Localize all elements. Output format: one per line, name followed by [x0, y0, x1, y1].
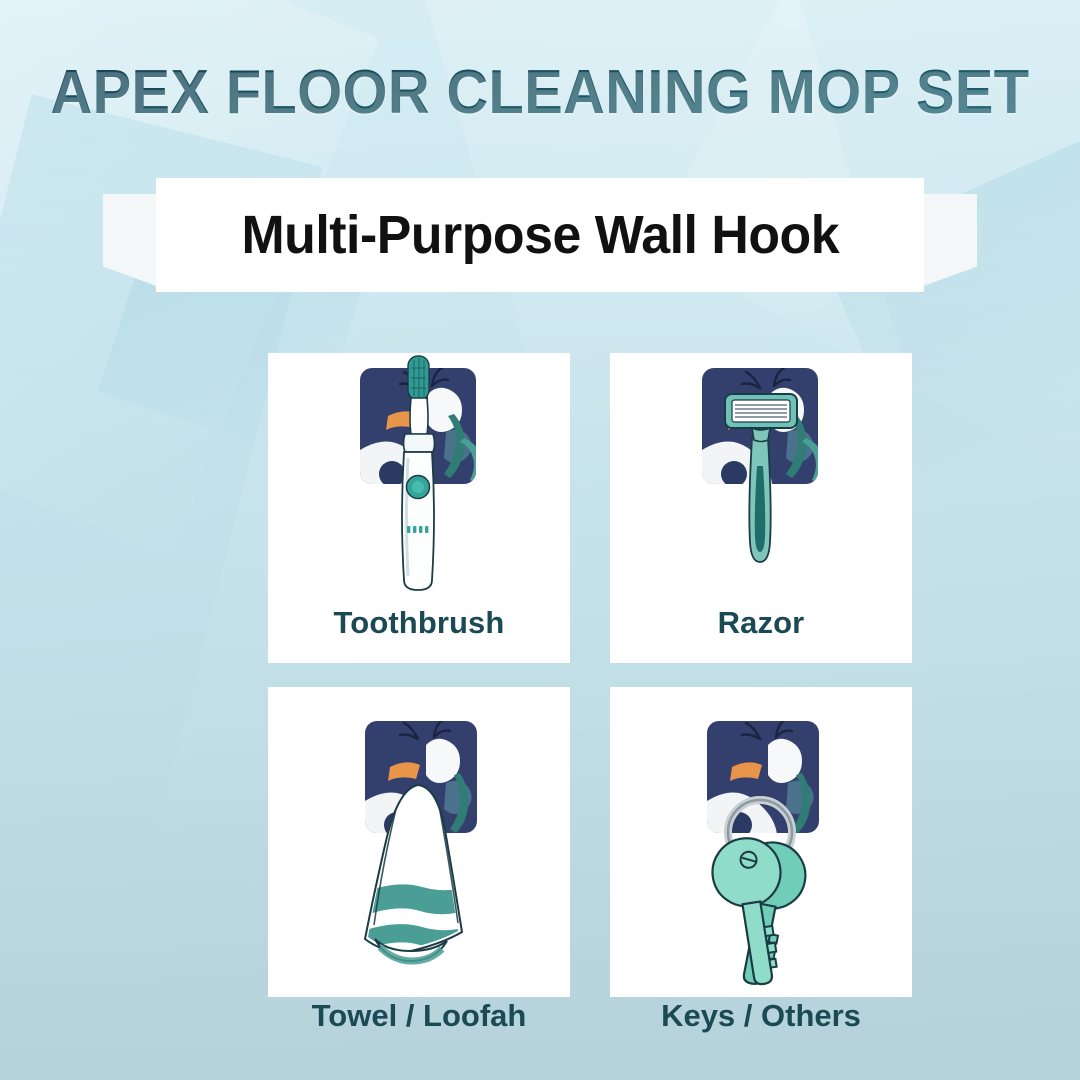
- card-towel[interactable]: [268, 687, 570, 997]
- product-card-grid: Toothbrush: [268, 353, 912, 997]
- card-label-toothbrush: Toothbrush: [334, 605, 505, 663]
- ribbon-body: Multi-Purpose Wall Hook: [156, 178, 924, 292]
- bottom-row-labels: Towel / Loofah Keys / Others: [268, 998, 912, 1034]
- infographic-stage: APEX FLOOR CLEANING MOP SET Multi-Purpos…: [0, 0, 1080, 1080]
- razor-icon: [610, 353, 912, 605]
- card-label-towel: Towel / Loofah: [268, 998, 570, 1034]
- page-title: APEX FLOOR CLEANING MOP SET: [38, 62, 1042, 124]
- card-label-keys: Keys / Others: [610, 998, 912, 1034]
- hanging-towel-icon: [268, 687, 570, 997]
- card-razor[interactable]: Razor: [610, 353, 912, 663]
- banner-title: Multi-Purpose Wall Hook: [241, 204, 839, 266]
- electric-toothbrush-icon: [268, 353, 570, 605]
- ribbon-banner: Multi-Purpose Wall Hook: [0, 178, 1080, 308]
- card-keys[interactable]: [610, 687, 912, 997]
- card-label-razor: Razor: [718, 605, 805, 663]
- card-toothbrush[interactable]: Toothbrush: [268, 353, 570, 663]
- key-ring-icon: [610, 687, 912, 997]
